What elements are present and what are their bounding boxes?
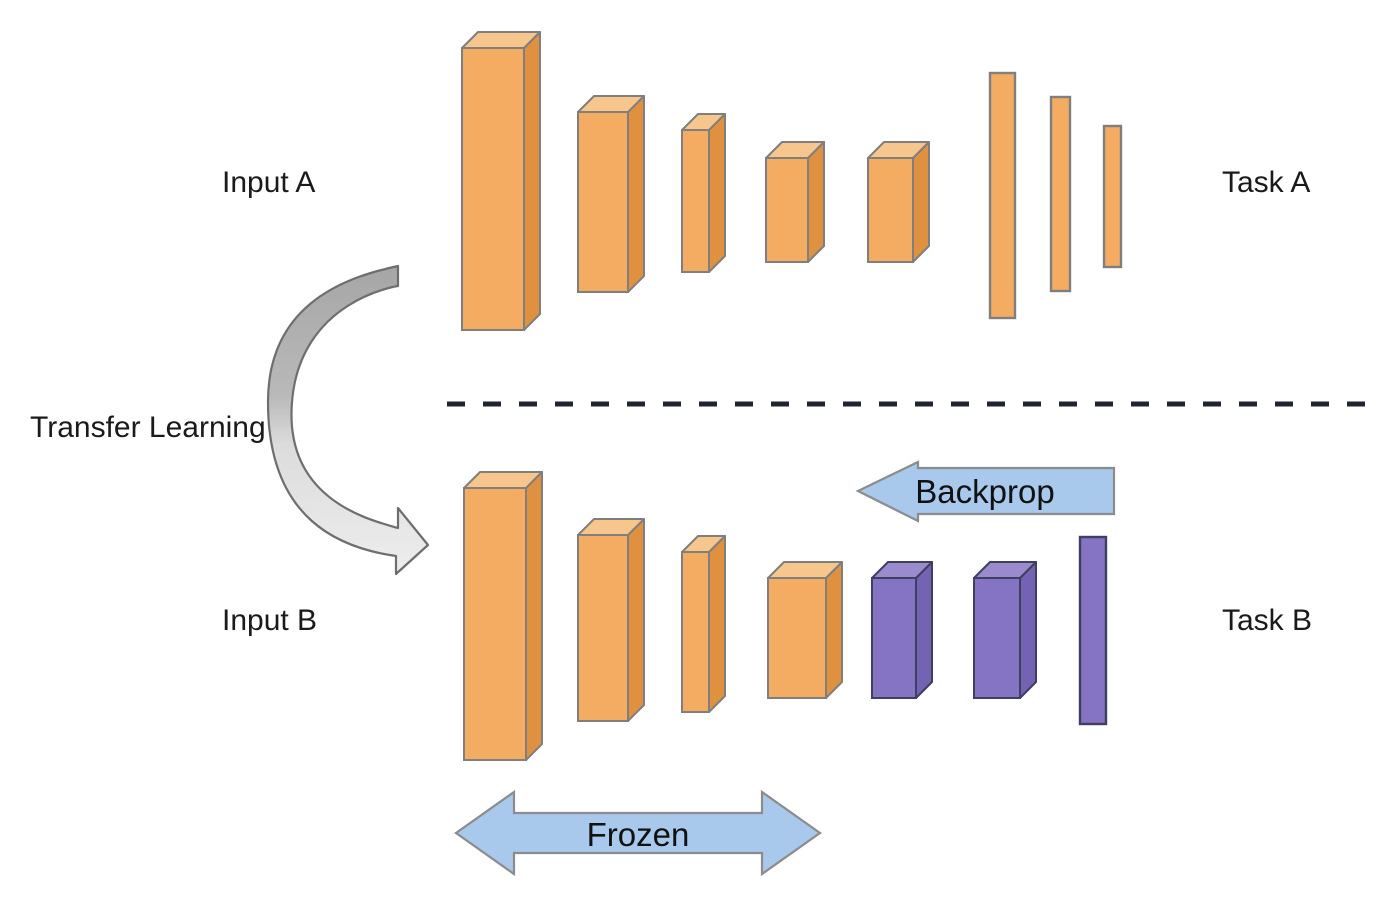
bar-front-face [868,158,913,262]
transfer-learning-diagram: Backprop Frozen Input A Input B Task A T… [0,0,1400,900]
layer-bar-b5[interactable] [872,562,932,698]
layer-bar-b2[interactable] [578,519,644,721]
task-a-label: Task A [1222,166,1310,199]
layer-bar-b3[interactable] [682,536,725,712]
transfer-learning-label: Transfer Learning [30,411,266,444]
bar-front-face [682,552,709,712]
layer-bar-a7[interactable] [1051,97,1070,291]
diagram-canvas: Backprop Frozen Input A Input B Task A T… [0,0,1400,900]
bar-side-face [709,114,725,272]
backprop-label: Backprop [915,473,1054,510]
bar-side-face [808,142,824,262]
bar-front-face [464,488,526,760]
curved-arrow-shape [268,266,428,574]
bar-front-face [682,130,709,272]
layer-bar-a4[interactable] [766,142,824,262]
bar-flat-face [1104,126,1121,267]
bar-side-face [826,562,842,698]
task-b-network [464,472,1106,760]
layer-bar-a5[interactable] [868,142,929,262]
bar-front-face [768,578,826,698]
bar-side-face [1020,562,1036,698]
bar-side-face [709,536,725,712]
bar-front-face [974,578,1020,698]
bar-side-face [913,142,929,262]
backprop-arrow: Backprop [858,462,1114,521]
layer-bar-a2[interactable] [578,96,644,292]
layer-bar-a3[interactable] [682,114,725,272]
bar-front-face [578,112,628,292]
bar-side-face [628,519,644,721]
layer-bar-b6[interactable] [974,562,1036,698]
frozen-label: Frozen [587,816,690,853]
task-a-network [462,32,1121,330]
input-b-label: Input B [222,604,317,637]
task-b-label: Task B [1222,604,1312,637]
layer-bar-a8[interactable] [1104,126,1121,267]
bar-side-face [628,96,644,292]
layer-bar-b7[interactable] [1080,537,1106,724]
layer-bar-b1[interactable] [464,472,542,760]
bar-front-face [872,578,916,698]
bar-side-face [916,562,932,698]
input-a-label: Input A [222,166,315,199]
bar-front-face [766,158,808,262]
bar-flat-face [990,73,1015,318]
frozen-arrow: Frozen [456,792,820,874]
layer-bar-b4[interactable] [768,562,842,698]
transfer-learning-curved-arrow [268,266,428,574]
bar-flat-face [1080,537,1106,724]
bar-front-face [578,535,628,721]
layer-bar-a6[interactable] [990,73,1015,318]
bar-front-face [462,48,524,330]
layer-bar-a1[interactable] [462,32,540,330]
bar-side-face [524,32,540,330]
bar-side-face [526,472,542,760]
bar-flat-face [1051,97,1070,291]
